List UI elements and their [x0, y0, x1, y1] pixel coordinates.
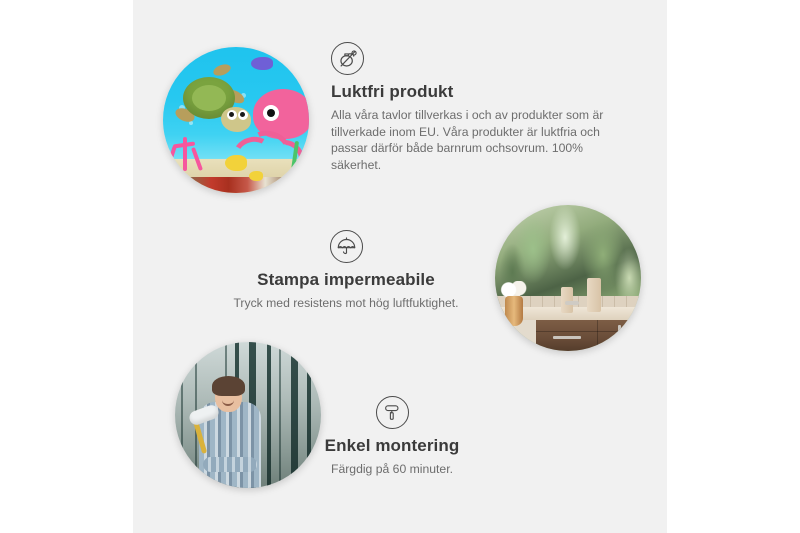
feature-assembly: Enkel montering Färgdig på 60 minuter.	[262, 396, 522, 478]
aquarium-illustration	[163, 47, 309, 193]
product-image-aquarium[interactable]	[163, 47, 309, 193]
tree	[181, 342, 183, 488]
yellow-fish-icon	[225, 155, 247, 171]
feature-waterproof: Stampa impermeabile Tryck med resistens …	[216, 230, 476, 312]
no-odour-spray-bottle-icon	[331, 42, 364, 75]
vanity-cabinet	[536, 320, 641, 351]
cabinet-seam	[536, 331, 641, 332]
feature-title: Luktfri produkt	[331, 82, 627, 102]
turtle-eye	[227, 110, 237, 120]
product-image-bathroom[interactable]	[495, 205, 641, 351]
feature-body: Tryck med resistens mot hög luftfuktighe…	[216, 295, 476, 312]
sea-bottom-strip	[163, 177, 309, 193]
cabinet-handle	[618, 325, 621, 351]
feature-title: Enkel montering	[262, 436, 522, 456]
feature-odourless: Luktfri produkt Alla våra tavlor tillver…	[331, 42, 627, 173]
cabinet-seam	[597, 320, 598, 351]
cabinet-handle	[553, 336, 581, 339]
coral-branch	[165, 145, 177, 171]
woman-arm	[203, 457, 257, 472]
feature-title: Stampa impermeabile	[216, 270, 476, 290]
woman-hair	[212, 376, 245, 396]
yellow-fish-icon	[249, 171, 263, 181]
umbrella-icon	[330, 230, 363, 263]
coral-icon	[163, 133, 213, 173]
faucet	[565, 301, 579, 305]
soap-bottle	[561, 287, 573, 313]
feature-body: Alla våra tavlor tillverkas i och av pro…	[331, 107, 627, 173]
octopus-eye	[263, 105, 279, 121]
bathroom-photo	[495, 205, 641, 351]
turtle-eye	[238, 110, 248, 120]
paint-roller-icon	[376, 396, 409, 429]
screenshot-root: Luktfri produkt Alla våra tavlor tillver…	[0, 0, 800, 533]
vase	[505, 296, 523, 326]
blue-fish-icon	[251, 57, 273, 70]
turtle-head	[221, 107, 251, 132]
feature-body: Färgdig på 60 minuter.	[262, 461, 522, 478]
soap-bottle	[587, 278, 601, 312]
coral-branch	[191, 147, 203, 171]
